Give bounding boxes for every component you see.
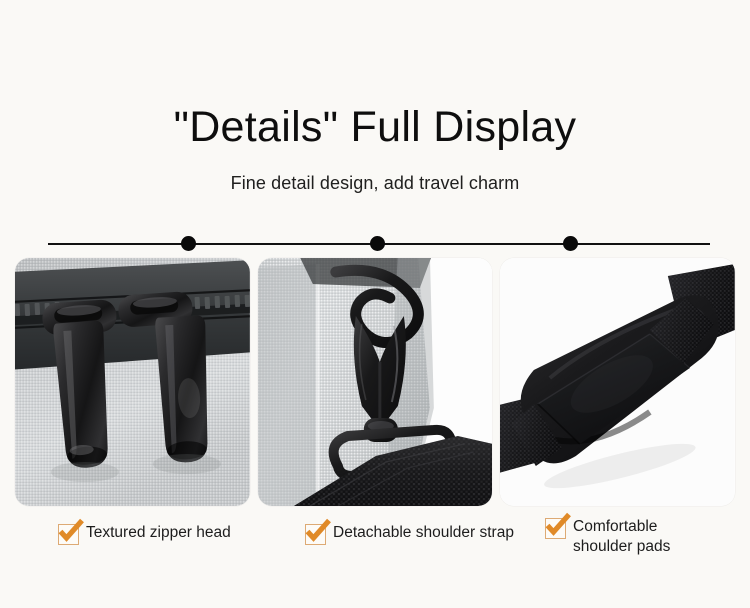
section-divider <box>48 236 710 252</box>
page-header: "Details" Full Display Fine detail desig… <box>0 0 750 194</box>
check-icon-glyph <box>304 518 331 545</box>
caption-label: Comfortable shoulder pads <box>573 516 670 557</box>
divider-dot-1 <box>181 236 196 251</box>
caption-label: Detachable shoulder strap <box>333 522 514 543</box>
caption-row: Textured zipper head Detachable shoulder… <box>0 516 750 576</box>
caption-item-zipper-head: Textured zipper head <box>58 522 231 545</box>
divider-dot-3 <box>563 236 578 251</box>
check-icon <box>58 524 79 545</box>
zipper-head-photo <box>15 258 250 506</box>
check-icon <box>305 524 326 545</box>
divider-dot-2 <box>370 236 385 251</box>
panel-zipper-head[interactable] <box>15 258 250 506</box>
panel-shoulder-strap-clasp[interactable] <box>258 258 493 506</box>
page-title: "Details" Full Display <box>0 104 750 151</box>
caption-label: Textured zipper head <box>86 522 231 543</box>
caption-item-shoulder-pads: Comfortable shoulder pads <box>545 516 670 557</box>
check-icon <box>545 518 566 539</box>
caption-item-shoulder-strap: Detachable shoulder strap <box>305 522 514 545</box>
detail-photo-gallery <box>15 258 735 506</box>
shoulder-strap-clasp-photo <box>258 258 493 506</box>
page-subtitle: Fine detail design, add travel charm <box>0 173 750 194</box>
shoulder-pad-photo <box>500 258 735 506</box>
check-icon-glyph <box>544 512 571 539</box>
panel-shoulder-pad[interactable] <box>500 258 735 506</box>
check-icon-glyph <box>57 518 84 545</box>
